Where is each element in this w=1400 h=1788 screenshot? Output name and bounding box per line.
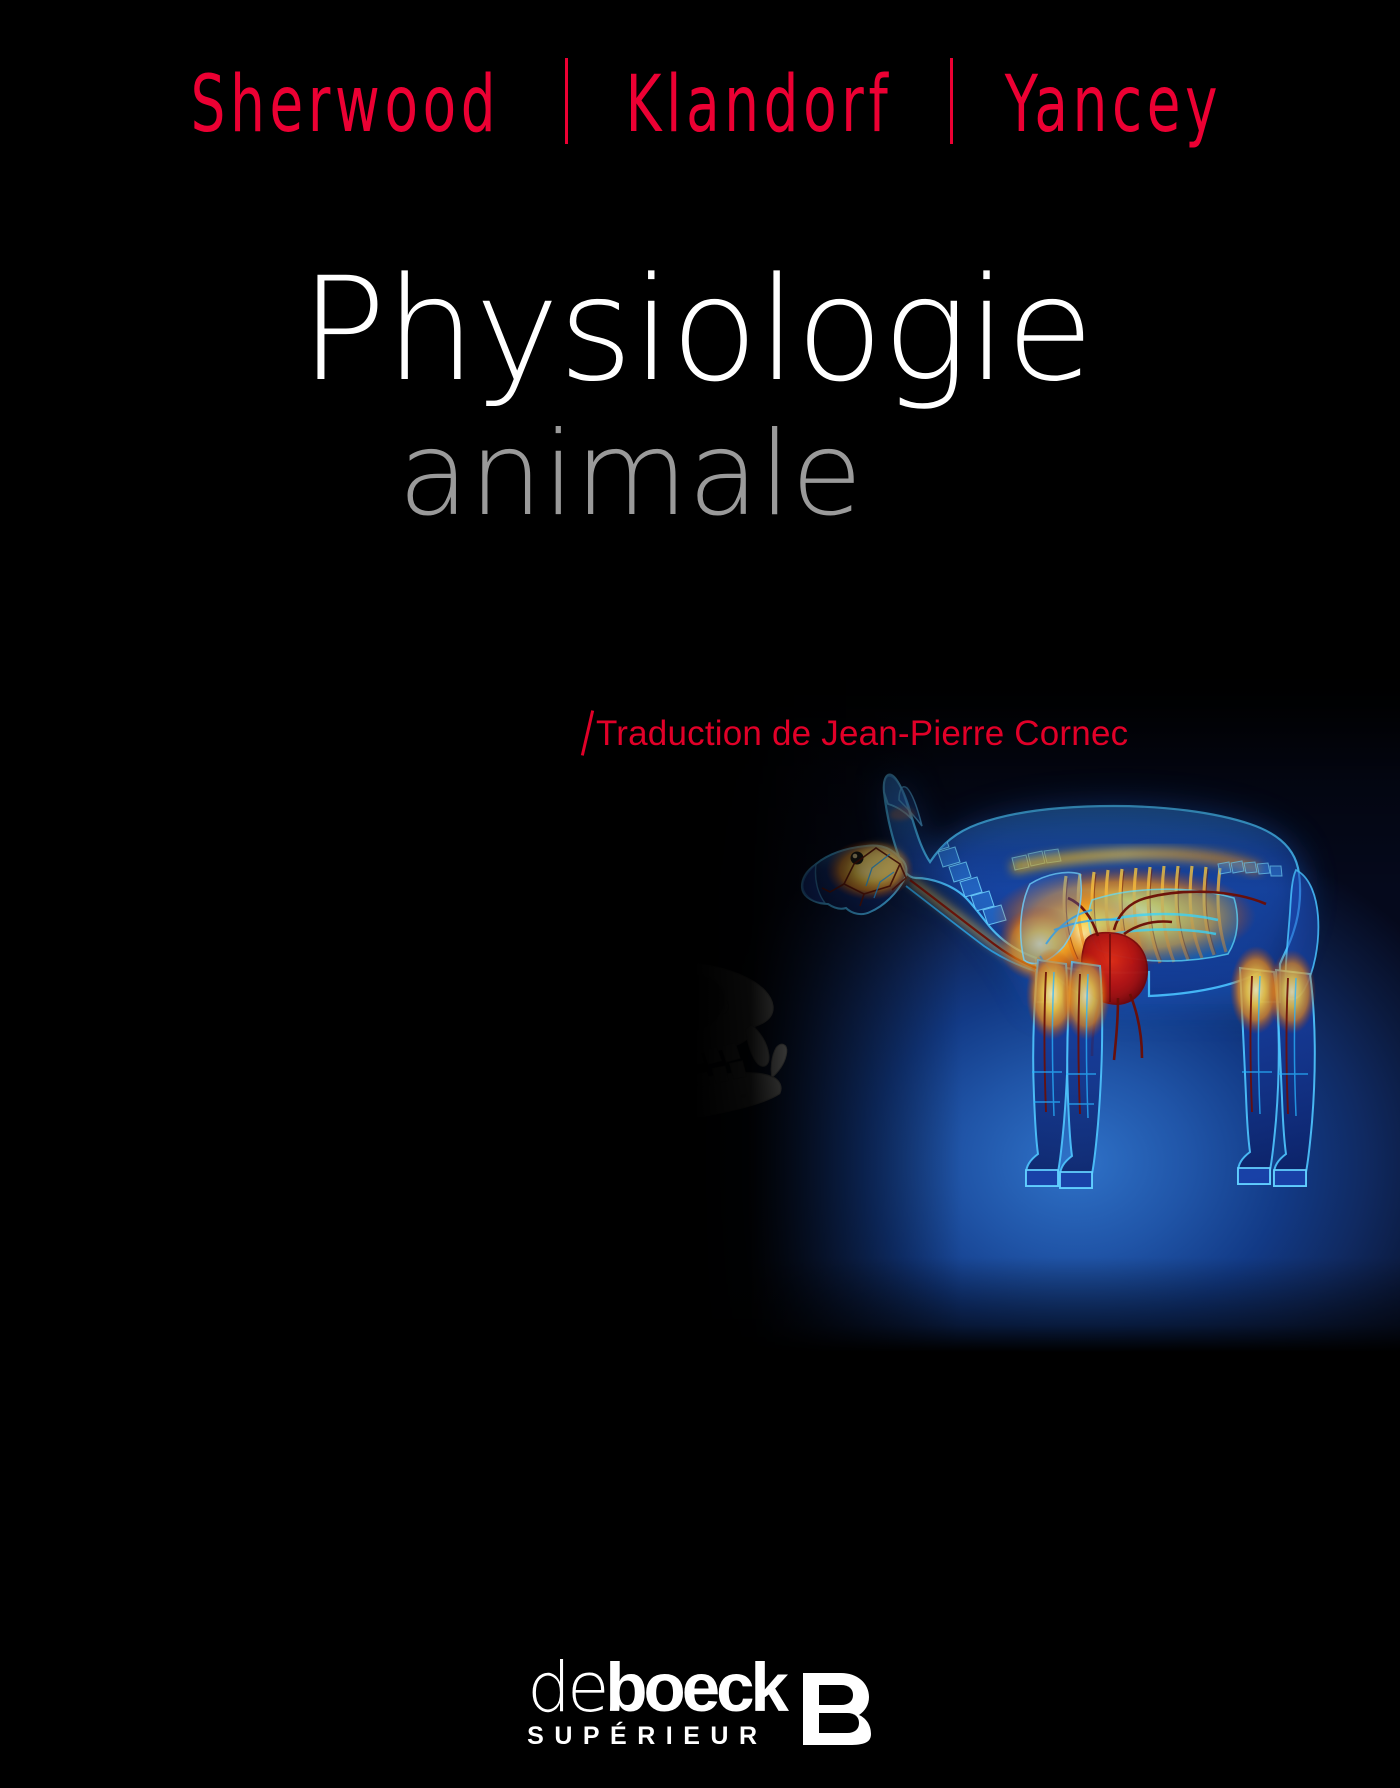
book-subtitle: animale (0, 417, 1400, 533)
author-name-2: Klandorf (626, 66, 893, 144)
cover-artwork (694, 672, 1400, 1352)
author-name-3: Yancey (1005, 66, 1223, 144)
publisher-logo: deboeck SUPÉRIEUR (0, 1656, 1400, 1751)
publisher-badge (797, 1671, 873, 1747)
author-name-1: Sherwood (191, 66, 501, 144)
publisher-name-light: de (527, 1648, 605, 1728)
publisher-wordmark: deboeck (527, 1656, 785, 1720)
slash-rule-icon (581, 710, 594, 755)
author-separator-2 (950, 58, 953, 144)
b-badge-icon (797, 1671, 873, 1747)
publisher-name-bold: boeck (605, 1649, 784, 1726)
book-title: Physiologie (0, 258, 1400, 401)
title-block: Physiologie animale (0, 258, 1400, 533)
translator-credit-label: Traduction de Jean-Pierre Cornec (596, 714, 1128, 753)
artwork-bottom-fade (694, 672, 1400, 1352)
book-cover: Sherwood Klandorf Yancey Physiologie ani… (0, 0, 1400, 1788)
translator-credit: Traduction de Jean-Pierre Cornec (586, 710, 1128, 756)
publisher-tagline: SUPÉRIEUR (527, 1722, 785, 1751)
author-separator-1 (565, 58, 568, 144)
authors-line: Sherwood Klandorf Yancey (0, 62, 1400, 148)
